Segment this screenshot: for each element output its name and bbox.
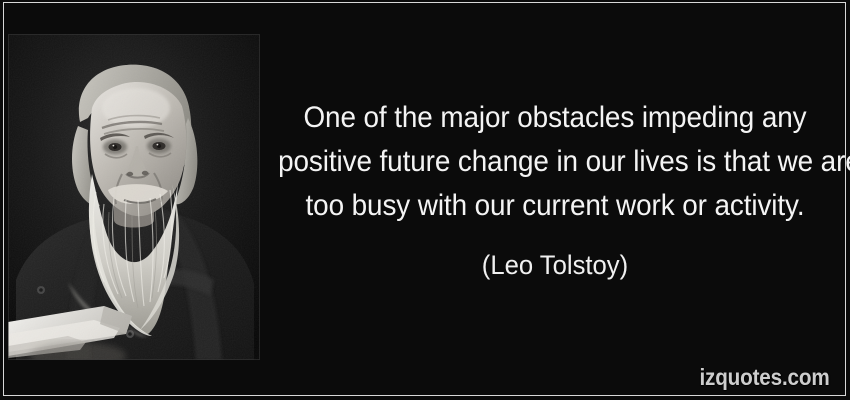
site-watermark: izquotes.com (700, 364, 830, 391)
quote-line-1: One of the major obstacles impeding any (278, 96, 832, 140)
portrait-image (8, 34, 260, 360)
quote-attribution: (Leo Tolstoy) (277, 248, 834, 282)
quote-card: One of the major obstacles impeding any … (0, 0, 850, 400)
leo-tolstoy-portrait (8, 34, 260, 360)
quote-line-2: positive future change in our lives is t… (278, 140, 832, 184)
quote-line-3: too busy with our current work or activi… (278, 184, 832, 228)
quote-text: One of the major obstacles impeding any … (262, 96, 848, 228)
